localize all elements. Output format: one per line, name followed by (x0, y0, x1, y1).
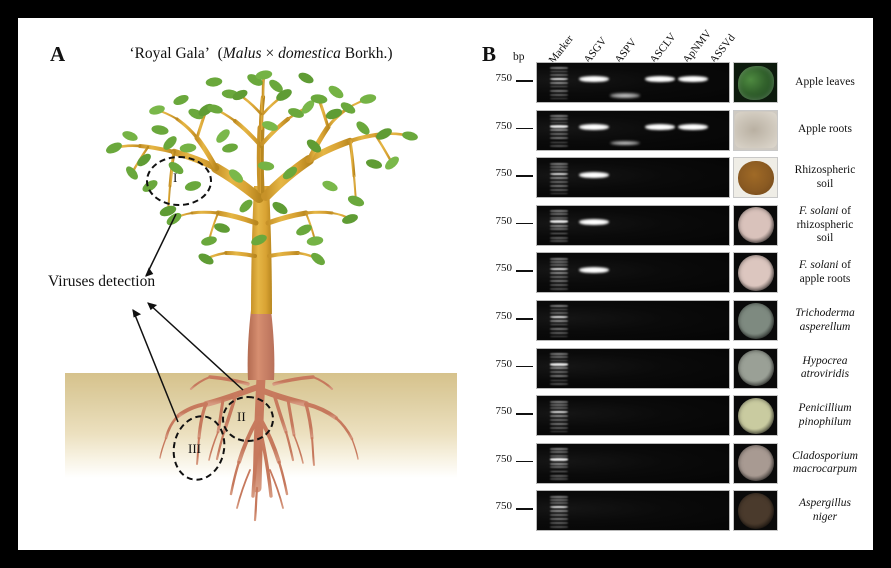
sample-label-row-3: Rhizosphericsoil (782, 157, 868, 198)
sample-label-row-4: F. solani ofrhizosphericsoil (782, 205, 868, 246)
region-marker-III-label: III (188, 441, 201, 457)
ladder-band-2 (550, 309, 568, 311)
ladder-band-9 (550, 526, 568, 528)
marker-ladder (550, 256, 568, 291)
ladder-band-4 (550, 458, 568, 460)
thumbnail-image (738, 66, 774, 100)
sample-label-line: macrocarpum (782, 463, 868, 477)
marker-ladder (550, 494, 568, 529)
ladder-band-3 (550, 169, 568, 171)
ladder-band-7 (550, 518, 568, 520)
bp-tick-dash-row-4 (516, 223, 533, 225)
ladder-band-4 (550, 268, 568, 270)
ladder-band-7 (550, 328, 568, 330)
annotation-arrows (133, 214, 243, 422)
marker-ladder (550, 447, 568, 482)
bp-tick-label-row-2: 750 (482, 120, 512, 132)
bp-tick-dash-row-3 (516, 175, 533, 177)
sample-label-row-5: F. solani ofapple roots (782, 252, 868, 293)
ladder-band-9 (550, 145, 568, 147)
thumbnail-fusarium-solani-rhizospheric-culture (733, 205, 778, 246)
ladder-band-4 (550, 220, 568, 222)
thumbnail-image (738, 161, 774, 195)
sample-label-line: Apple leaves (782, 76, 868, 90)
sample-label-row-6: Trichodermaasperellum (782, 300, 868, 341)
thumbnail-image (738, 493, 774, 529)
ladder-band-3 (550, 502, 568, 504)
bp-tick-label-row-3: 750 (482, 167, 512, 179)
bp-tick-label-row-4: 750 (482, 215, 512, 227)
thumbnail-apple-root-photo (733, 110, 778, 151)
ladder-band-1 (550, 258, 568, 260)
sample-label-line: F. solani of (782, 259, 868, 273)
sample-label-line: soil (782, 232, 868, 246)
ladder-band-8 (550, 380, 568, 382)
sample-label-line: rhizospheric (782, 219, 868, 233)
panel-b-letter: B (482, 42, 496, 67)
bp-tick-label-row-1: 750 (482, 72, 512, 84)
ladder-band-6 (550, 276, 568, 278)
ladder-band-3 (550, 122, 568, 124)
ladder-band-3 (550, 264, 568, 266)
ladder-band-2 (550, 451, 568, 453)
gel-lane-row-5 (536, 252, 730, 293)
sample-label-line: Rhizospheric (782, 164, 868, 178)
ladder-band-2 (550, 499, 568, 501)
ladder-band-1 (550, 496, 568, 498)
gel-band-asgv-row-2 (579, 124, 609, 130)
ladder-band-7 (550, 233, 568, 235)
bp-tick-dash-row-2 (516, 128, 533, 130)
region-marker-II-label: II (237, 409, 246, 425)
sample-label-line: F. solani of (782, 205, 868, 219)
sample-label-row-7: Hypocreaatroviridis (782, 348, 868, 389)
ladder-band-5 (550, 463, 568, 465)
bp-tick-label-row-5: 750 (482, 262, 512, 274)
thumbnail-hypocrea-atroviridis-culture (733, 348, 778, 389)
sample-label-line: pinophilum (782, 416, 868, 430)
ladder-band-1 (550, 115, 568, 117)
ladder-band-2 (550, 404, 568, 406)
sample-label-line: asperellum (782, 321, 868, 335)
sample-label-line: Aspergillus (782, 497, 868, 511)
bp-tick-label-row-7: 750 (482, 358, 512, 370)
ladder-band-7 (550, 185, 568, 187)
ladder-band-8 (550, 427, 568, 429)
thumbnail-image (738, 350, 774, 386)
ladder-band-3 (550, 360, 568, 362)
ladder-band-7 (550, 471, 568, 473)
gel-lane-row-4 (536, 205, 730, 246)
thumbnail-image (738, 445, 774, 481)
bp-tick-dash-row-7 (516, 366, 533, 368)
ladder-band-9 (550, 193, 568, 195)
ladder-band-9 (550, 98, 568, 100)
ladder-band-5 (550, 177, 568, 179)
ladder-band-9 (550, 288, 568, 290)
ladder-band-9 (550, 336, 568, 338)
ladder-band-2 (550, 356, 568, 358)
ladder-band-1 (550, 210, 568, 212)
ladder-band-5 (550, 225, 568, 227)
ladder-band-1 (550, 401, 568, 403)
ladder-band-4 (550, 316, 568, 318)
ladder-band-5 (550, 129, 568, 131)
bp-tick-label-row-10: 750 (482, 500, 512, 512)
ladder-band-6 (550, 466, 568, 468)
sample-label-row-9: Cladosporiummacrocarpum (782, 443, 868, 484)
ladder-band-9 (550, 478, 568, 480)
ladder-band-2 (550, 71, 568, 73)
thumbnail-aspergillus-niger-culture (733, 490, 778, 531)
ladder-band-3 (550, 217, 568, 219)
marker-ladder (550, 209, 568, 244)
ladder-band-5 (550, 367, 568, 369)
ladder-band-8 (550, 189, 568, 191)
marker-ladder (550, 304, 568, 339)
gel-lane-row-9 (536, 443, 730, 484)
viruses-detection-label: Viruses detection (48, 273, 155, 291)
bp-tick-label-row-8: 750 (482, 405, 512, 417)
region-marker-I-ellipse (146, 156, 212, 206)
thumbnail-trichoderma-asperellum-culture (733, 300, 778, 341)
sample-label-line: Penicillium (782, 402, 868, 416)
gel-band-asgv-row-3 (579, 172, 609, 178)
ladder-band-6 (550, 419, 568, 421)
figure-root: A ‘Royal Gala’ (Malus × domestica Borkh.… (0, 0, 891, 568)
thumbnail-image (738, 303, 774, 339)
gel-lane-row-7 (536, 348, 730, 389)
thumbnail-penicillium-pinophilum-culture (733, 395, 778, 436)
ladder-band-1 (550, 448, 568, 450)
gel-band-asgv-row-5 (579, 267, 609, 273)
ladder-band-7 (550, 90, 568, 92)
ladder-band-8 (550, 475, 568, 477)
bp-tick-dash-row-9 (516, 461, 533, 463)
gel-band-apnmv-row-2 (678, 124, 708, 130)
sample-label-line: soil (782, 178, 868, 192)
ladder-band-9 (550, 431, 568, 433)
thumbnail-image (735, 112, 777, 148)
ladder-band-1 (550, 305, 568, 307)
ladder-band-3 (550, 312, 568, 314)
ladder-band-2 (550, 213, 568, 215)
bp-tick-dash-row-8 (516, 413, 533, 415)
sample-label-row-2: Apple roots (782, 110, 868, 151)
marker-ladder (550, 114, 568, 149)
ladder-band-1 (550, 163, 568, 165)
figure-canvas: A ‘Royal Gala’ (Malus × domestica Borkh.… (18, 18, 873, 550)
ladder-band-4 (550, 411, 568, 413)
ladder-band-2 (550, 166, 568, 168)
ladder-band-6 (550, 324, 568, 326)
ladder-band-6 (550, 86, 568, 88)
sample-label-row-10: Aspergillusniger (782, 490, 868, 531)
sample-label-line: Apple roots (782, 123, 868, 137)
ladder-band-3 (550, 74, 568, 76)
ladder-band-3 (550, 407, 568, 409)
ladder-band-9 (550, 383, 568, 385)
panel-a: A ‘Royal Gala’ (Malus × domestica Borkh.… (18, 18, 458, 550)
ladder-band-6 (550, 133, 568, 135)
sample-label-line: apple roots (782, 273, 868, 287)
marker-ladder (550, 66, 568, 101)
ladder-band-7 (550, 137, 568, 139)
ladder-band-2 (550, 118, 568, 120)
sample-label-row-8: Penicilliumpinophilum (782, 395, 868, 436)
bp-tick-label-row-9: 750 (482, 453, 512, 465)
ladder-band-3 (550, 455, 568, 457)
lane-label-asclv: ASCLV (648, 31, 679, 66)
region-marker-I-label: I (173, 170, 177, 186)
bp-tick-dash-row-1 (516, 80, 533, 82)
gel-lane-row-6 (536, 300, 730, 341)
bp-tick-dash-row-5 (516, 270, 533, 272)
thumbnail-fusarium-solani-apple-roots-culture (733, 252, 778, 293)
bp-tick-dash-row-6 (516, 318, 533, 320)
marker-ladder (550, 399, 568, 434)
thumbnail-rhizospheric-soil-photo (733, 157, 778, 198)
ladder-band-2 (550, 261, 568, 263)
sample-label-line: Cladosporium (782, 450, 868, 464)
ladder-band-1 (550, 67, 568, 69)
ladder-band-5 (550, 320, 568, 322)
bp-unit-label: bp (513, 51, 525, 63)
ladder-band-4 (550, 173, 568, 175)
sample-label-line: Trichoderma (782, 307, 868, 321)
ladder-band-6 (550, 514, 568, 516)
ladder-band-7 (550, 280, 568, 282)
panel-b: B bp MarkerASGVASPVASCLVApNMVASSVd 75075… (458, 18, 873, 550)
trunk (251, 186, 272, 314)
thumbnail-image (738, 255, 774, 291)
gel-lane-row-10 (536, 490, 730, 531)
ladder-band-1 (550, 353, 568, 355)
ladder-band-8 (550, 522, 568, 524)
ladder-band-5 (550, 510, 568, 512)
ladder-band-4 (550, 363, 568, 365)
ladder-band-4 (550, 78, 568, 80)
thumbnail-image (738, 398, 774, 434)
ladder-band-6 (550, 181, 568, 183)
bp-tick-label-row-6: 750 (482, 310, 512, 322)
ladder-band-6 (550, 371, 568, 373)
ladder-band-8 (550, 237, 568, 239)
thumbnail-image (738, 207, 774, 243)
thumbnail-cladosporium-macrocarpum-culture (733, 443, 778, 484)
marker-ladder (550, 161, 568, 196)
gel-lane-row-2 (536, 110, 730, 151)
gel-band-aspv-row-1 (610, 93, 640, 98)
thumbnail-apple-leaf-photo (733, 62, 778, 103)
ladder-band-7 (550, 423, 568, 425)
ladder-band-5 (550, 82, 568, 84)
ladder-band-6 (550, 228, 568, 230)
bp-tick-dash-row-10 (516, 508, 533, 510)
ladder-band-4 (550, 506, 568, 508)
ladder-band-8 (550, 284, 568, 286)
ladder-band-9 (550, 240, 568, 242)
ladder-band-8 (550, 142, 568, 144)
trunk-base (248, 310, 275, 380)
ladder-band-8 (550, 332, 568, 334)
sample-label-line: Hypocrea (782, 355, 868, 369)
gel-lane-row-8 (536, 395, 730, 436)
ladder-band-8 (550, 94, 568, 96)
gel-band-asclv-row-2 (645, 124, 675, 130)
ladder-band-5 (550, 415, 568, 417)
region-marker-II-ellipse (222, 396, 274, 442)
ladder-band-5 (550, 272, 568, 274)
ladder-band-4 (550, 125, 568, 127)
sample-label-row-1: Apple leaves (782, 62, 868, 103)
ladder-band-7 (550, 375, 568, 377)
sample-label-line: niger (782, 511, 868, 525)
marker-ladder (550, 352, 568, 387)
gel-lane-row-3 (536, 157, 730, 198)
sample-label-line: atroviridis (782, 368, 868, 382)
gel-lane-row-1 (536, 62, 730, 103)
